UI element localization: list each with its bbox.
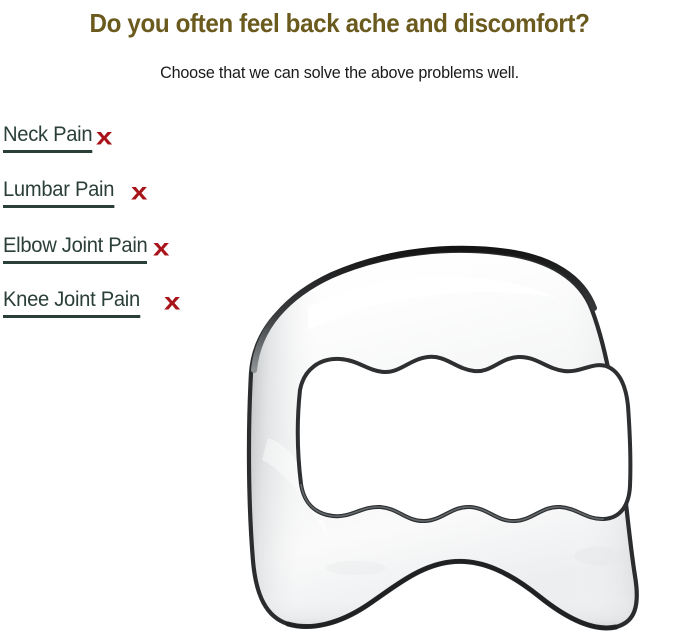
pain-point-label-elbow: Elbow Joint Pain [3, 233, 147, 264]
cross-mark-icon: x [164, 291, 180, 314]
gua-sha-tool-illustration [188, 238, 673, 636]
pain-point-label-knee: Knee Joint Pain [3, 287, 140, 318]
pain-point-label-lumbar: Lumbar Pain [3, 177, 114, 208]
product-listing-infographic: Do you often feel back ache and discomfo… [0, 0, 679, 636]
list-item: Lumbar Pain x [3, 177, 145, 208]
tool-handle-cutout [298, 357, 631, 521]
cross-mark-icon: x [96, 126, 112, 149]
list-item: Elbow Joint Pain x [3, 233, 167, 264]
pain-point-label-neck: Neck Pain [3, 122, 92, 153]
list-item: Knee Joint Pain x [3, 287, 178, 318]
product-image-gua-sha-tool [188, 238, 673, 636]
cross-mark-icon: x [131, 181, 147, 204]
cross-mark-icon: x [153, 237, 169, 260]
list-item: Neck Pain x [3, 122, 110, 153]
